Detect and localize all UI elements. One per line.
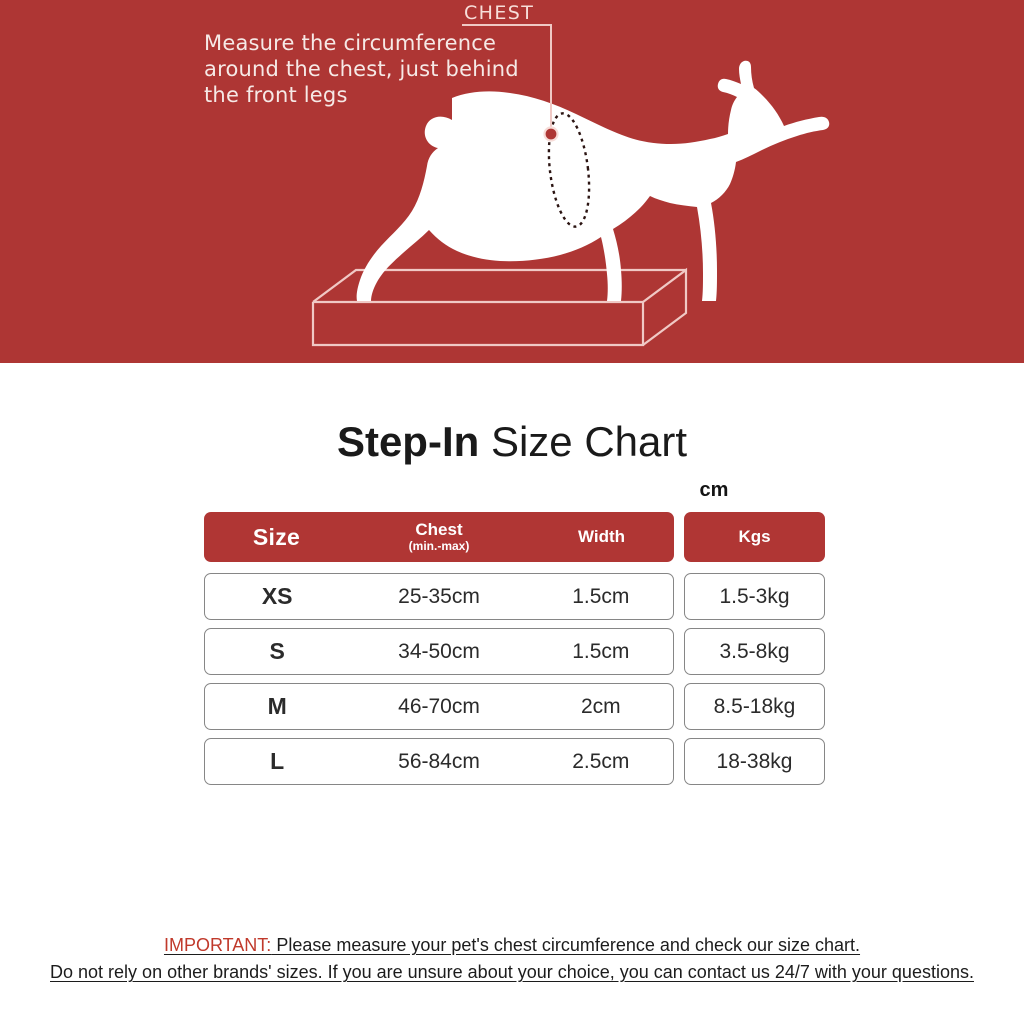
cell-kgs: 1.5-3kg	[719, 585, 789, 609]
title-bold-part: Step-In	[337, 418, 479, 465]
table-row: XS 25-35cm 1.5cm 1.5-3kg	[204, 573, 825, 620]
header-main-group: Size Chest (min.-max) Width	[204, 512, 674, 562]
table-header-row: Size Chest (min.-max) Width Kgs	[204, 512, 825, 562]
title-light-part: Size Chart	[491, 418, 687, 465]
cell-width: 2.5cm	[529, 750, 673, 774]
page-title: Step-In Size Chart	[0, 418, 1024, 466]
footer-line-1-rest: Please measure your pet's chest circumfe…	[271, 935, 860, 955]
cell-width: 2cm	[529, 695, 673, 719]
size-chart-table: Size Chest (min.-max) Width Kgs XS 25-35…	[204, 512, 825, 793]
cell-kgs: 3.5-8kg	[719, 640, 789, 664]
row-main-group: S 34-50cm 1.5cm	[204, 628, 674, 675]
chest-measure-circle-icon	[545, 128, 558, 141]
header-cell-chest: Chest (min.-max)	[349, 521, 529, 552]
header-cell-kgs: Kgs	[684, 512, 825, 562]
cell-size: XS	[205, 583, 349, 610]
row-main-group: M 46-70cm 2cm	[204, 683, 674, 730]
header-chest-sub: (min.-max)	[349, 540, 529, 553]
cell-chest: 34-50cm	[349, 640, 528, 664]
table-row: S 34-50cm 1.5cm 3.5-8kg	[204, 628, 825, 675]
hero-panel: CHEST Measure the circumference around t…	[0, 0, 1024, 363]
header-chest-main: Chest	[349, 521, 529, 539]
header-cell-size: Size	[204, 524, 349, 551]
row-main-group: L 56-84cm 2.5cm	[204, 738, 674, 785]
cell-kgs-box: 3.5-8kg	[684, 628, 825, 675]
header-kgs-label: Kgs	[738, 527, 770, 547]
measure-instruction-text: Measure the circumference around the che…	[204, 30, 544, 108]
footer-disclaimer: IMPORTANT: Please measure your pet's che…	[0, 932, 1024, 986]
chest-label: CHEST	[464, 2, 534, 24]
unit-label: cm	[684, 479, 744, 502]
cell-size: S	[205, 638, 349, 665]
cell-size: L	[205, 748, 349, 775]
cell-chest: 56-84cm	[349, 750, 528, 774]
footer-line-2: Do not rely on other brands' sizes. If y…	[0, 959, 1024, 986]
cell-kgs-box: 8.5-18kg	[684, 683, 825, 730]
cell-kgs-box: 18-38kg	[684, 738, 825, 785]
cell-width: 1.5cm	[529, 640, 673, 664]
cell-kgs-box: 1.5-3kg	[684, 573, 825, 620]
cell-chest: 25-35cm	[349, 585, 528, 609]
important-label: IMPORTANT:	[164, 935, 271, 955]
cell-size: M	[205, 693, 349, 720]
cell-kgs: 8.5-18kg	[714, 695, 796, 719]
table-row: M 46-70cm 2cm 8.5-18kg	[204, 683, 825, 730]
row-main-group: XS 25-35cm 1.5cm	[204, 573, 674, 620]
footer-line-1: IMPORTANT: Please measure your pet's che…	[0, 932, 1024, 959]
table-row: L 56-84cm 2.5cm 18-38kg	[204, 738, 825, 785]
header-cell-width: Width	[529, 527, 674, 547]
cell-chest: 46-70cm	[349, 695, 528, 719]
cell-kgs: 18-38kg	[717, 750, 793, 774]
cell-width: 1.5cm	[529, 585, 673, 609]
